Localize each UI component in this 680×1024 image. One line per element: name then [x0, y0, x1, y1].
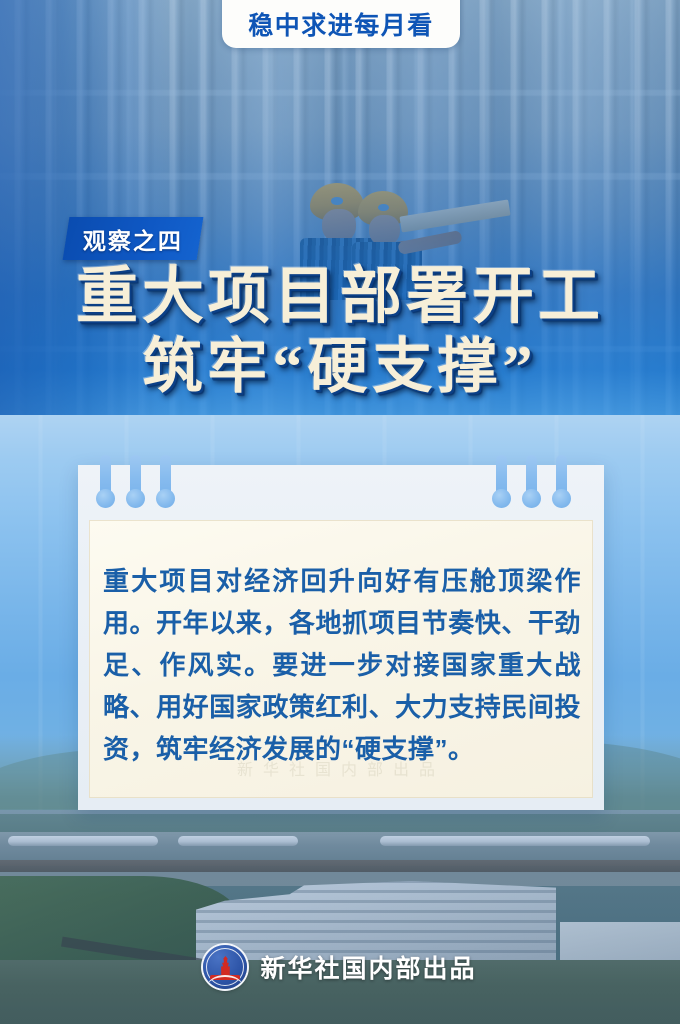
- pin-knob: [126, 489, 145, 508]
- footer-logo-row: 新华社国内部出品: [0, 945, 680, 989]
- bottom-photo-blue-tint: [0, 810, 680, 1024]
- pin-knob: [522, 489, 541, 508]
- bottom-photo-station: [0, 810, 680, 1024]
- pin-knob: [552, 489, 571, 508]
- main-title-line-1: 重大项目部署开工: [0, 262, 680, 332]
- series-tag: 观察之四: [63, 217, 204, 260]
- xinhua-logo-icon: [203, 945, 247, 989]
- header-badge: 稳中求进每月看: [222, 0, 460, 48]
- footer-caption: 新华社国内部出品: [260, 949, 476, 985]
- pin-knob: [492, 489, 511, 508]
- header-badge-label: 稳中求进每月看: [248, 6, 434, 42]
- series-tag-label: 观察之四: [83, 222, 183, 256]
- main-title: 重大项目部署开工 筑牢“硬支撑”: [0, 262, 680, 402]
- pin-knob: [96, 489, 115, 508]
- pin-knob: [156, 489, 175, 508]
- poster-root: 稳中求进每月看 观察之四 重大项目部署开工 筑牢“硬支撑” 新华社国内部出品: [0, 0, 680, 1024]
- notepad-body-text: 重大项目对经济回升向好有压舱顶梁作用。开年以来，各地抓项目节奏快、干劲足、作风实…: [103, 560, 581, 770]
- main-title-line-2: 筑牢“硬支撑”: [0, 332, 680, 402]
